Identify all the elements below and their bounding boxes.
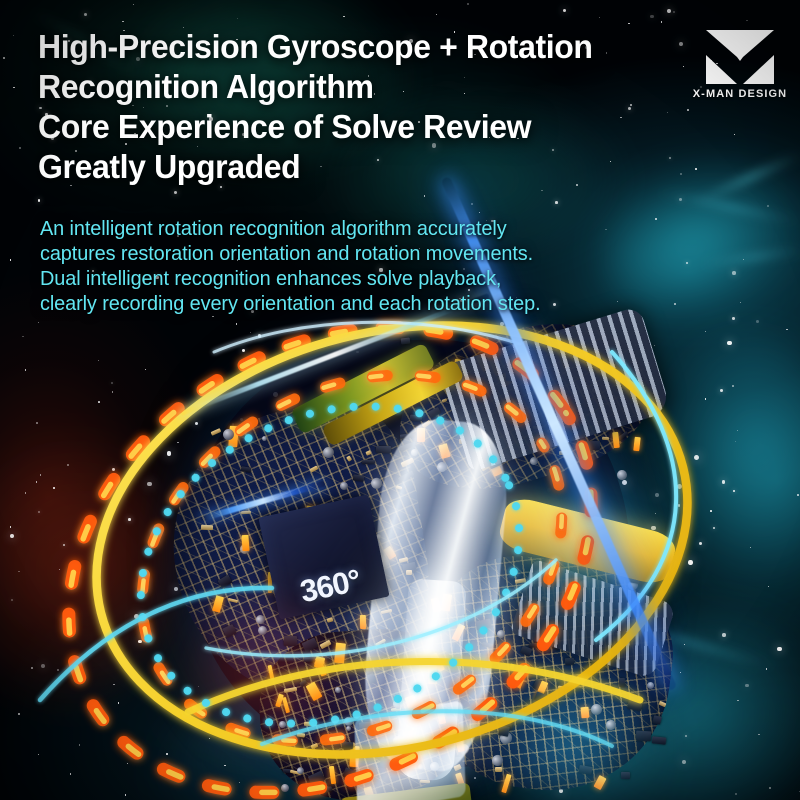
star-dot — [769, 787, 771, 789]
star-dot — [97, 565, 98, 566]
smd-component — [242, 535, 250, 551]
star-dot — [705, 331, 706, 332]
chrome-core-facet — [354, 700, 466, 800]
star-dot — [500, 325, 503, 328]
smd-component — [585, 441, 600, 450]
star-dot — [541, 190, 543, 192]
star-dot — [237, 18, 238, 19]
smd-component — [284, 635, 297, 645]
star-dot — [38, 199, 41, 202]
star-dot — [699, 542, 702, 545]
star-dot — [786, 329, 787, 330]
smd-component — [621, 772, 630, 779]
star-dot — [628, 23, 629, 24]
smd-component — [304, 722, 314, 726]
star-dot — [734, 134, 735, 135]
star-dot — [18, 571, 19, 572]
star-dot — [79, 744, 81, 746]
star-dot — [667, 112, 669, 114]
brand-wordmark: X-MAN DESIGN — [680, 88, 800, 100]
star-dot — [36, 422, 38, 424]
star-dot — [737, 700, 739, 702]
star-dot — [661, 21, 662, 22]
star-dot — [777, 647, 782, 652]
headline-line-2: Recognition Algorithm — [38, 68, 649, 108]
star-dot — [3, 57, 5, 59]
star-dot — [127, 763, 128, 764]
star-dot — [436, 14, 438, 16]
star-dot — [38, 322, 39, 323]
description-paragraph: An intelligent rotation recognition algo… — [40, 216, 671, 316]
star-dot — [677, 484, 682, 489]
star-dot — [743, 259, 744, 260]
smd-component — [409, 414, 421, 421]
star-dot — [722, 480, 726, 484]
star-dot — [133, 4, 134, 5]
smd-component — [580, 706, 589, 718]
star-dot — [25, 369, 27, 371]
star-dot — [479, 212, 480, 213]
smd-component — [635, 731, 651, 742]
star-dot — [98, 360, 99, 361]
x-man-butterfly-icon — [704, 28, 776, 86]
headline: High-Precision Gyroscope + Rotation Reco… — [38, 28, 649, 188]
star-dot — [705, 398, 706, 399]
star-dot — [19, 147, 21, 149]
smd-component — [619, 678, 626, 687]
star-dot — [31, 667, 33, 669]
smd-component — [210, 428, 221, 436]
star-dot — [134, 614, 139, 619]
star-dot — [680, 672, 681, 673]
star-dot — [10, 534, 15, 539]
star-dot — [22, 336, 24, 338]
star-dot — [732, 317, 735, 320]
star-dot — [138, 640, 142, 644]
smd-component — [261, 435, 267, 441]
star-dot — [650, 15, 653, 18]
star-dot — [25, 492, 27, 494]
star-dot — [750, 547, 751, 548]
star-dot — [688, 560, 693, 565]
star-dot — [174, 191, 177, 194]
star-dot — [10, 526, 12, 528]
star-dot — [713, 527, 715, 529]
smd-component — [346, 726, 351, 731]
headline-line-4: Greatly Upgraded — [38, 148, 649, 188]
star-dot — [683, 507, 685, 509]
star-dot — [467, 3, 469, 5]
star-dot — [41, 664, 45, 668]
star-dot — [70, 773, 72, 775]
star-dot — [143, 615, 144, 616]
smd-component — [319, 786, 332, 792]
star-dot — [63, 544, 65, 546]
star-dot — [720, 389, 723, 392]
star-dot — [667, 9, 671, 13]
star-dot — [38, 754, 40, 756]
star-dot — [67, 464, 69, 466]
star-dot — [737, 430, 739, 432]
star-dot — [563, 9, 567, 13]
star-dot — [683, 66, 684, 67]
star-dot — [687, 109, 689, 111]
star-dot — [732, 271, 736, 275]
star-dot — [125, 794, 127, 796]
star-dot — [36, 481, 37, 482]
smd-component — [334, 643, 346, 664]
description-line-2: captures restoration orientation and rot… — [40, 241, 671, 266]
star-dot — [59, 569, 60, 570]
smd-component — [280, 783, 289, 792]
brand-logo: X-MAN DESIGN — [698, 28, 782, 110]
star-dot — [758, 734, 760, 736]
star-dot — [735, 793, 737, 795]
star-dot — [694, 455, 699, 460]
star-dot — [343, 16, 345, 18]
star-dot — [128, 518, 131, 521]
star-dot — [18, 713, 20, 715]
smd-component — [340, 482, 348, 490]
star-dot — [735, 441, 736, 442]
star-dot — [84, 13, 87, 16]
star-dot — [727, 341, 732, 346]
star-dot — [53, 487, 55, 489]
star-dot — [145, 369, 146, 370]
star-dot — [733, 490, 735, 492]
smd-component — [651, 736, 666, 744]
star-dot — [11, 599, 13, 601]
star-dot — [111, 382, 113, 384]
smd-component — [617, 470, 628, 481]
smd-component — [334, 686, 341, 693]
star-dot — [112, 391, 114, 393]
star-dot — [13, 35, 14, 36]
star-dot — [40, 474, 42, 476]
description-line-3: Dual intelligent recognition enhances so… — [40, 266, 671, 291]
star-dot — [745, 684, 749, 688]
headline-line-1: High-Precision Gyroscope + Rotation — [38, 28, 649, 68]
star-dot — [424, 195, 426, 197]
description-line-1: An intelligent rotation recognition algo… — [40, 216, 671, 241]
star-dot — [13, 87, 14, 88]
star-dot — [458, 322, 460, 324]
smd-component — [591, 703, 603, 715]
star-dot — [746, 20, 747, 21]
star-dot — [740, 302, 741, 303]
star-dot — [768, 586, 769, 587]
star-dot — [732, 385, 734, 387]
star-dot — [118, 702, 120, 704]
gyroscope-cube-product: 360° — [150, 330, 670, 800]
star-dot — [679, 198, 682, 201]
smd-component — [297, 732, 306, 737]
smd-component — [485, 704, 500, 714]
star-dot — [555, 201, 558, 204]
smd-component — [342, 742, 353, 749]
star-dot — [98, 401, 100, 403]
star-dot — [38, 511, 40, 513]
star-dot — [599, 17, 600, 18]
smd-component — [565, 657, 575, 664]
star-dot — [669, 157, 671, 159]
promo-banner: 360° — [0, 0, 800, 800]
star-dot — [686, 262, 688, 264]
star-dot — [766, 668, 768, 670]
star-dot — [678, 504, 681, 507]
headline-line-3: Core Experience of Solve Review — [38, 108, 649, 148]
star-dot — [797, 494, 799, 496]
smd-component — [557, 685, 563, 689]
star-dot — [212, 316, 213, 317]
star-dot — [10, 259, 12, 261]
smd-component — [362, 459, 375, 463]
smd-component — [279, 721, 286, 728]
star-dot — [722, 633, 726, 637]
star-dot — [684, 644, 685, 645]
smd-component — [241, 510, 251, 513]
star-dot — [113, 684, 115, 686]
smd-component — [375, 446, 390, 453]
smd-component — [633, 436, 640, 450]
star-dot — [122, 21, 123, 22]
star-dot — [679, 42, 683, 46]
star-dot — [471, 203, 473, 205]
star-dot — [680, 173, 682, 175]
star-dot — [756, 320, 760, 324]
description-line-4: clearly recording every orientation and … — [40, 291, 671, 316]
star-dot — [674, 303, 676, 305]
smd-component — [495, 767, 502, 772]
star-dot — [682, 760, 686, 764]
star-dot — [710, 510, 712, 512]
smd-component — [359, 615, 365, 629]
star-dot — [767, 205, 769, 207]
star-dot — [685, 735, 687, 737]
star-dot — [673, 11, 675, 13]
star-dot — [695, 168, 697, 170]
star-dot — [236, 323, 238, 325]
star-dot — [57, 669, 59, 671]
smd-component — [223, 429, 234, 440]
star-dot — [112, 468, 115, 471]
smd-component — [201, 525, 213, 530]
